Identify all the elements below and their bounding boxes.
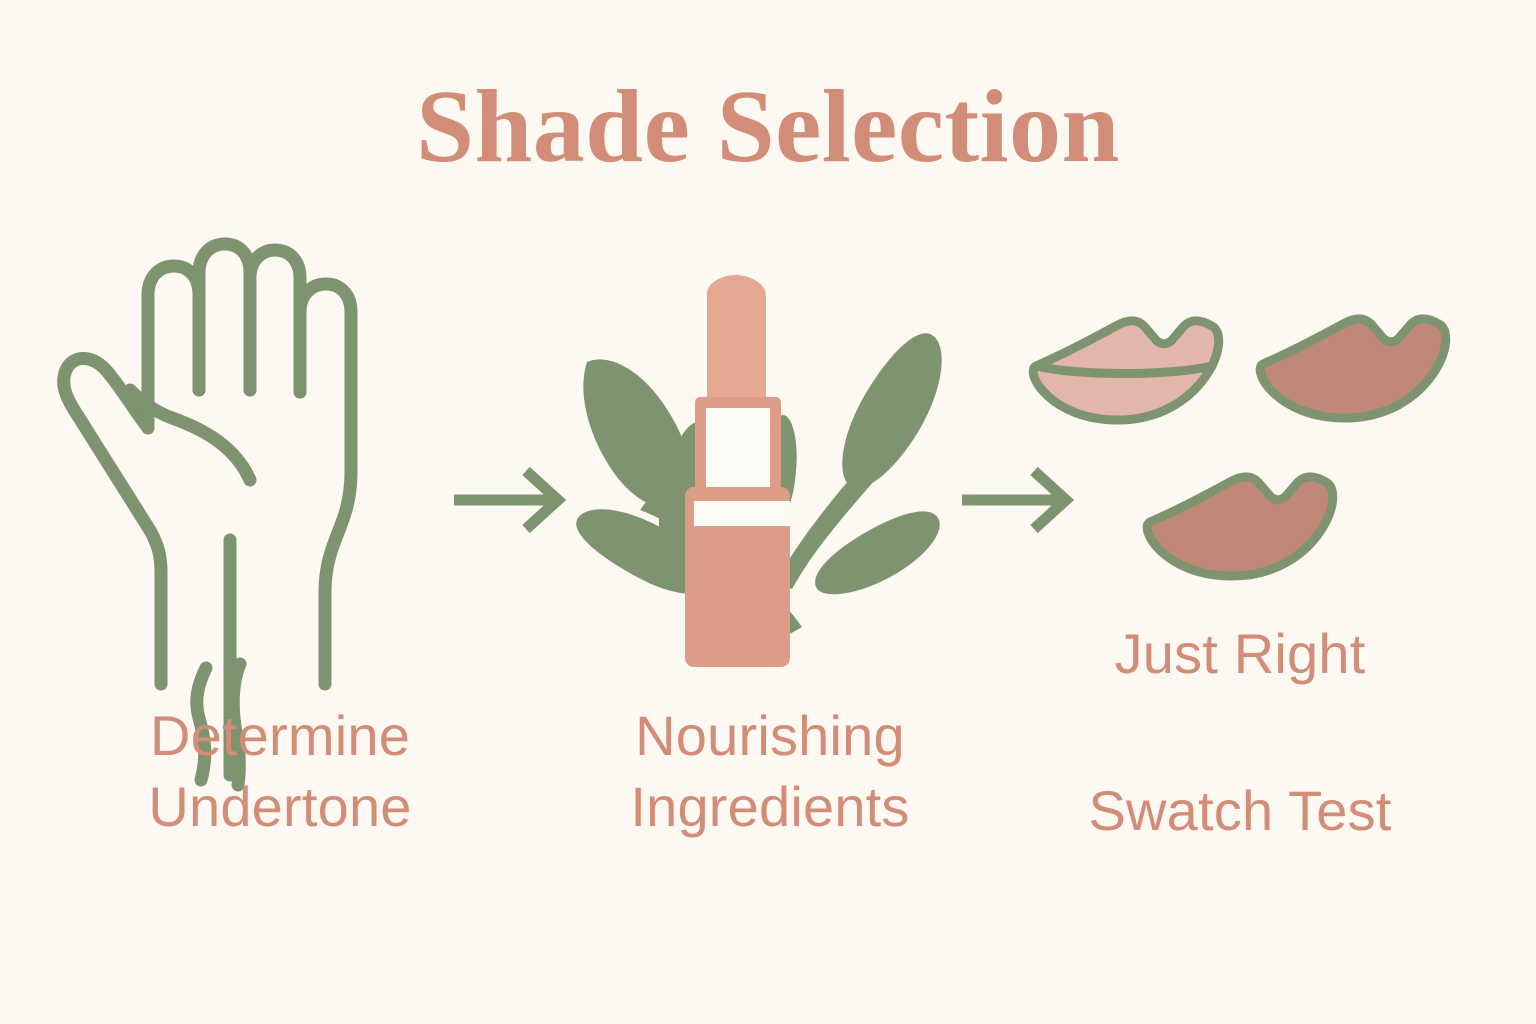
page-title: Shade Selection [0, 72, 1536, 181]
step-label-ingredients-line2: Ingredients [630, 775, 909, 838]
lipstick-with-leaves-icon [570, 275, 970, 670]
step-label-undertone-line1: Determine [150, 704, 410, 767]
step-label-ingredients: NourishingIngredients [560, 700, 980, 842]
infographic-canvas: Shade Selection [0, 0, 1536, 1024]
lip-swatch-light [1033, 321, 1219, 420]
step-label-just-right: Just Right [1020, 618, 1460, 689]
lip-swatch-dark-bottom [1147, 477, 1333, 576]
lip-swatch-dark-right [1260, 319, 1446, 418]
arrow-right-icon [450, 465, 570, 535]
step-label-undertone: DetermineUndertone [60, 700, 500, 842]
step-label-swatch-test: Swatch Test [1020, 775, 1460, 846]
step-label-undertone-line2: Undertone [148, 775, 411, 838]
open-hand-icon [60, 240, 390, 690]
three-lip-swatches-icon [1020, 300, 1460, 590]
step-label-ingredients-line1: Nourishing [635, 704, 905, 767]
